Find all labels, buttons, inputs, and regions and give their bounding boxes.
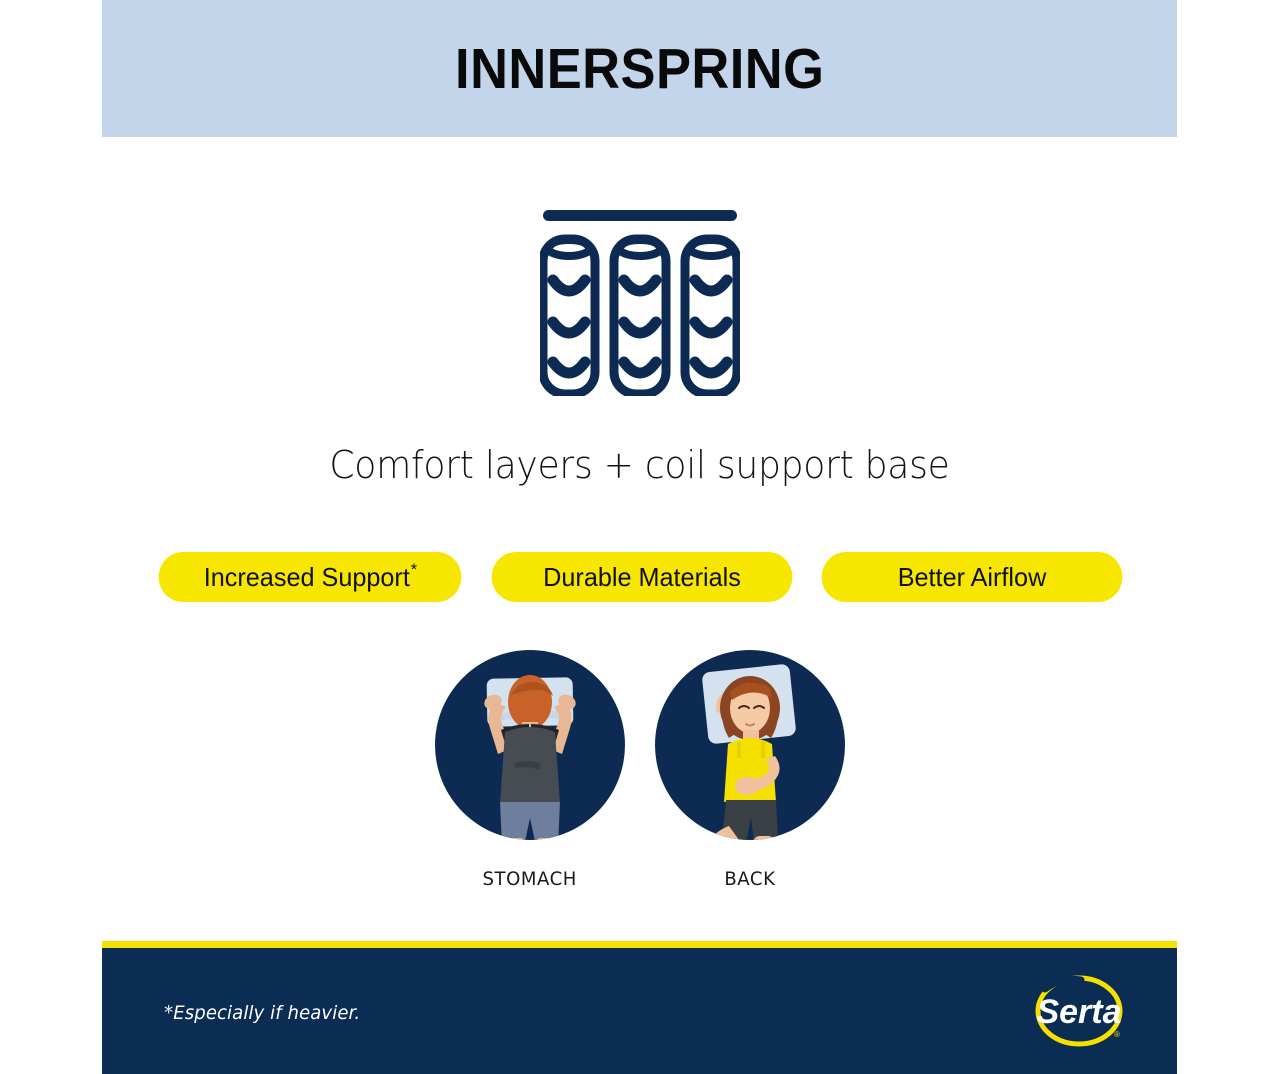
coil-2: [614, 239, 666, 394]
stomach-sleeper-illustration: [435, 650, 625, 840]
back-sleeper-circle: [655, 650, 845, 840]
badge-durable-materials[interactable]: Durable Materials: [491, 552, 792, 602]
innerspring-card: INNERSPRING: [102, 0, 1177, 1074]
footer-accent-stripe: [102, 941, 1177, 948]
position-label-stomach: STOMACH: [482, 868, 576, 890]
position-back[interactable]: BACK: [655, 650, 845, 920]
position-label-back: BACK: [724, 868, 775, 890]
card-footer: *Especially if heavier. Serta ®: [102, 948, 1177, 1074]
page-title: INNERSPRING: [455, 36, 824, 102]
serta-logo[interactable]: Serta ®: [1031, 975, 1127, 1047]
subtitle: Comfort layers + coil support base: [129, 443, 1150, 487]
serta-wordmark: Serta: [1036, 993, 1121, 1031]
infographic-page: INNERSPRING: [0, 0, 1280, 1074]
stomach-sleeper-circle: [435, 650, 625, 840]
badge-label: Increased Support: [204, 562, 410, 593]
feature-badges: Increased Support* Durable Materials Bet…: [154, 551, 1127, 603]
card-header: INNERSPRING: [102, 0, 1177, 137]
badge-label: Better Airflow: [898, 562, 1047, 593]
back-sleeper-illustration: [655, 650, 845, 840]
sleep-positions: STOMACH: [102, 650, 1177, 920]
innerspring-coils-icon: [102, 196, 1177, 406]
serta-logo-svg: Serta ®: [1031, 975, 1127, 1047]
coil-top-bar: [543, 210, 737, 221]
badge-increased-support[interactable]: Increased Support*: [159, 552, 462, 602]
coil-1: [543, 239, 595, 394]
footnote-text: *Especially if heavier.: [164, 1002, 360, 1024]
registered-mark: ®: [1114, 1030, 1120, 1039]
coil-3: [685, 239, 737, 394]
position-stomach[interactable]: STOMACH: [435, 650, 625, 920]
badge-better-airflow[interactable]: Better Airflow: [822, 552, 1123, 602]
coils-svg: [540, 196, 740, 396]
badge-label: Durable Materials: [543, 562, 741, 593]
